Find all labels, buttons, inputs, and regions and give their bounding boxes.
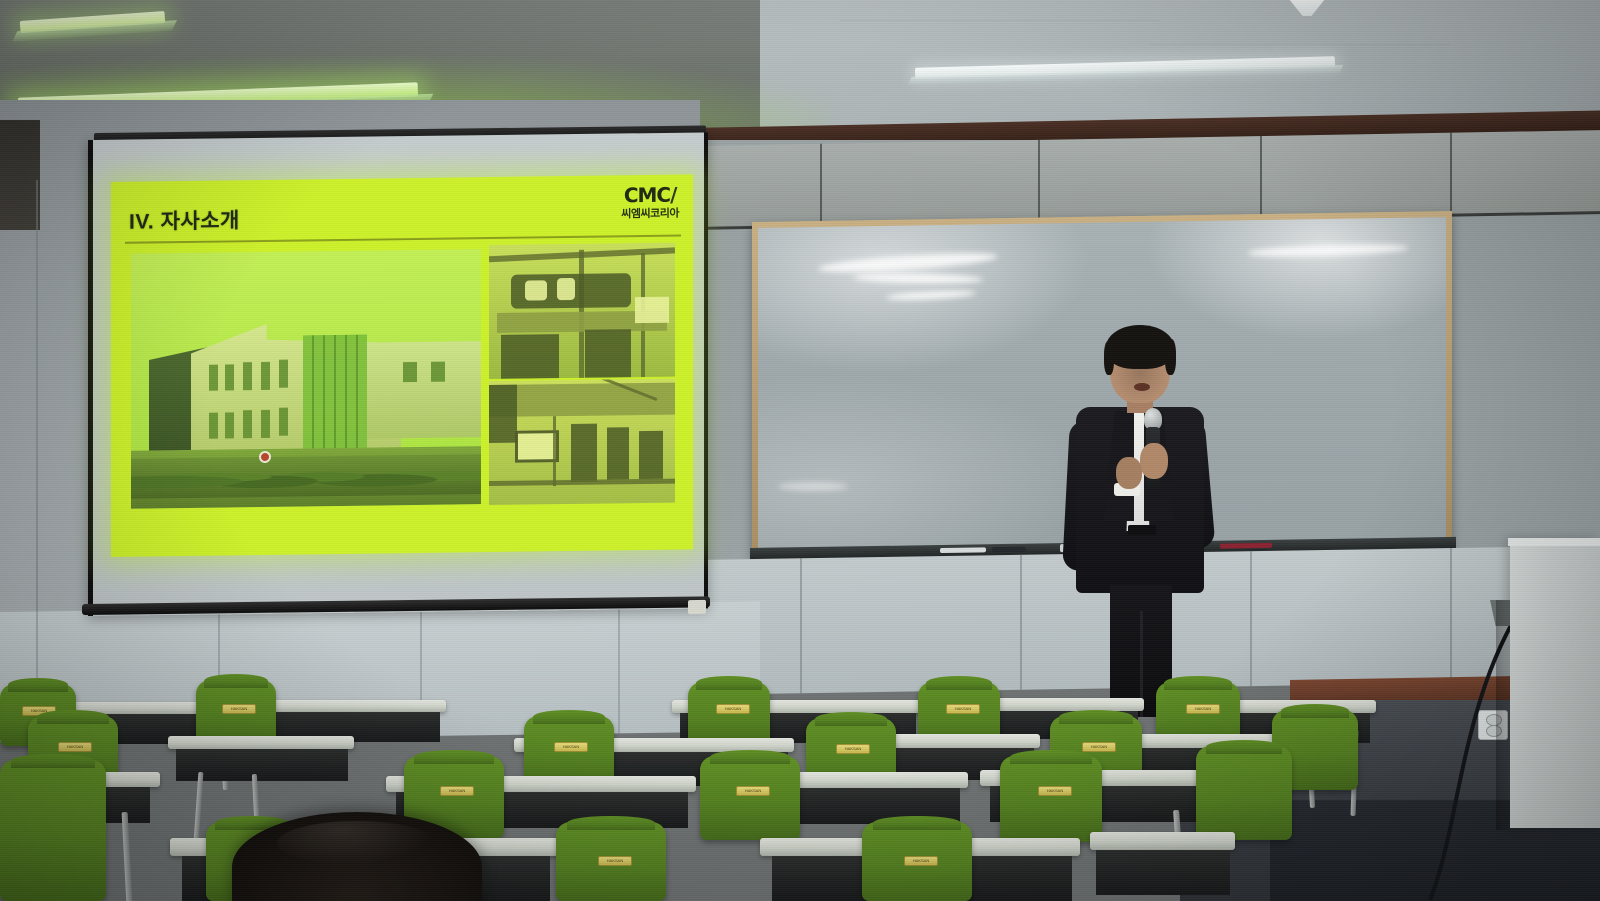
road-sign-icon	[259, 451, 271, 463]
building-right-block	[363, 341, 481, 439]
presenter-hair	[1106, 325, 1174, 369]
wall-seam	[36, 180, 38, 620]
chair[interactable]	[1196, 746, 1292, 840]
desk-underside	[1096, 850, 1230, 895]
company-logo: CMC/ 씨엠씨코리아	[621, 183, 679, 222]
slide-header: IV. 자사소개 CMC/ 씨엠씨코리아	[111, 174, 693, 244]
wall-dark-recess	[0, 120, 40, 230]
logo-mark-text: CMC	[624, 183, 670, 208]
desk-surface	[268, 700, 446, 712]
presenter	[1048, 325, 1228, 715]
desk-leg	[194, 772, 204, 842]
chair-brand-label: HAKSAN	[836, 744, 870, 754]
chair-brand-label: HAKSAN	[736, 786, 770, 796]
chair-brand-label: HAKSAN	[440, 786, 474, 796]
projected-slide: IV. 자사소개 CMC/ 씨엠씨코리아	[111, 174, 693, 557]
projection-screen-pull-handle[interactable]	[688, 600, 706, 614]
classroom-presentation-scene: IV. 자사소개 CMC/ 씨엠씨코리아	[0, 0, 1600, 901]
podium-top	[1508, 538, 1600, 546]
logo-mark: CMC/	[621, 183, 679, 208]
chair-brand-label: HAKSAN	[1038, 786, 1072, 796]
building-glass-facade	[303, 335, 367, 456]
slide-body	[131, 247, 675, 536]
chair-brand-label: HAKSAN	[222, 704, 256, 714]
slide-title: IV. 자사소개	[129, 204, 240, 235]
slide-photo-building	[131, 249, 481, 509]
whiteboard-glare	[886, 289, 976, 302]
presenter-mouth	[1134, 383, 1150, 391]
ceiling-seam	[840, 20, 1160, 21]
logo-slash: /	[670, 183, 676, 207]
chair-brand-label: HAKSAN	[1082, 742, 1116, 752]
marker-icon	[940, 547, 986, 553]
whiteboard-glare	[818, 249, 998, 275]
building-landscaping	[131, 454, 481, 499]
desk-surface	[1090, 832, 1235, 850]
chair[interactable]	[688, 682, 770, 746]
chair[interactable]	[0, 760, 106, 901]
chair-brand-label: HAKSAN	[904, 856, 938, 866]
chair-brand-label: HAKSAN	[946, 704, 980, 714]
chair[interactable]	[1000, 756, 1102, 842]
whiteboard-glare	[1248, 242, 1408, 258]
presenter-belt	[1128, 525, 1156, 535]
desk-leg	[122, 812, 133, 901]
chair[interactable]	[700, 756, 800, 840]
chair-brand-label: HAKSAN	[58, 742, 92, 752]
slide-photo-factory-lower	[489, 379, 675, 505]
presenter-right-hand	[1140, 443, 1168, 479]
chair-brand-label: HAKSAN	[1186, 704, 1220, 714]
slide-photo-factory-upper	[489, 243, 675, 379]
whiteboard-glare	[778, 482, 848, 491]
ceiling-seam	[1150, 44, 1450, 45]
presenter-left-hand	[1116, 457, 1142, 489]
marker-icon	[992, 547, 1026, 553]
whiteboard-glare	[853, 272, 983, 284]
chair-brand-label: HAKSAN	[554, 742, 588, 752]
desk-surface	[168, 736, 354, 749]
chair-brand-label: HAKSAN	[598, 856, 632, 866]
chair-brand-label: HAKSAN	[716, 704, 750, 714]
logo-korean-text: 씨엠씨코리아	[621, 205, 679, 222]
